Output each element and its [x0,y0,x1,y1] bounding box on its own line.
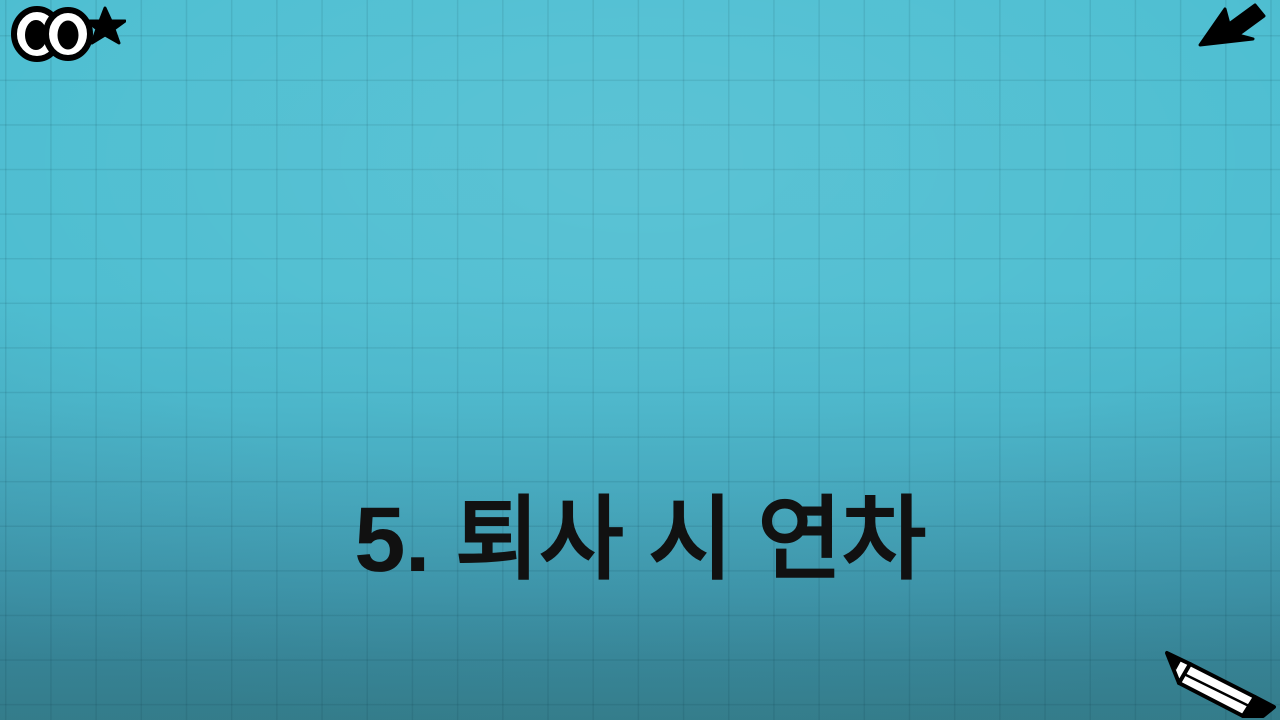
slide-title-line-1: 5. 퇴사 시 연차 [0,475,1280,606]
slide-canvas: 5. 퇴사 시 연차 정산, 실무 꿀팁 Q&A [0,0,1280,720]
arrow-down-left-icon [1198,2,1268,52]
slide-title: 5. 퇴사 시 연차 정산, 실무 꿀팁 Q&A [0,214,1280,720]
eyes-star-icon [6,2,126,62]
pencil-icon [1163,640,1278,718]
